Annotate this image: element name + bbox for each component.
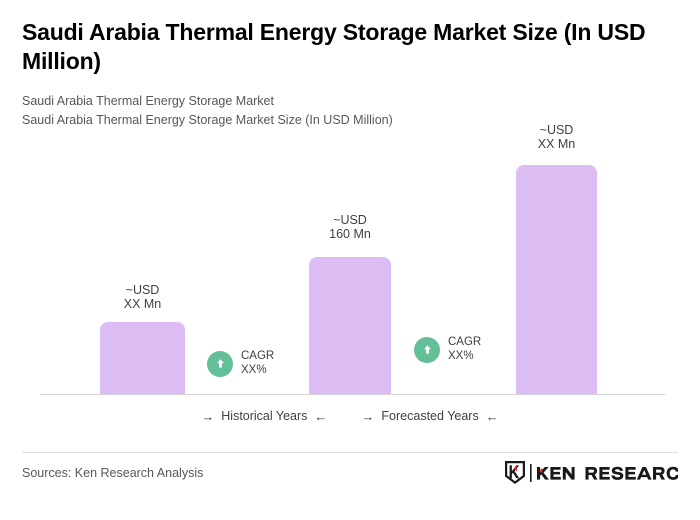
- legend-item-forecasted: → Forecasted Years ←: [361, 409, 498, 423]
- bar-label-3-line1: ~USD: [516, 123, 597, 137]
- bar-label-2: ~USD 160 Mn: [309, 213, 391, 242]
- legend-item-historical-label: Historical Years: [221, 409, 307, 423]
- bar-label-1: ~USD XX Mn: [100, 283, 185, 312]
- axis-baseline: [40, 394, 665, 395]
- footer-divider: [22, 452, 678, 453]
- ken-shield-icon: [504, 460, 526, 490]
- cagr-badge-2-line2: XX%: [448, 350, 481, 364]
- chart-page: Saudi Arabia Thermal Energy Storage Mark…: [0, 0, 700, 520]
- chart-legend: → Historical Years ← → Forecasted Years …: [0, 409, 700, 423]
- sources-note: Sources: Ken Research Analysis: [22, 466, 203, 480]
- arrow-right-icon: →: [361, 410, 374, 423]
- ken-research-logo: [504, 462, 678, 488]
- arrow-up-icon: [207, 351, 233, 377]
- bar-label-1-line2: XX Mn: [100, 297, 185, 311]
- arrow-right-icon: →: [201, 410, 214, 423]
- arrow-left-icon: ←: [314, 410, 327, 423]
- bar-3: [516, 165, 597, 395]
- ken-research-wordmark: [530, 463, 678, 488]
- bar-label-2-line1: ~USD: [309, 213, 391, 227]
- cagr-badge-2-line1: CAGR: [448, 336, 481, 350]
- bar-2: [309, 257, 391, 395]
- cagr-badge-2: CAGR XX%: [414, 336, 481, 364]
- arrow-left-icon: ←: [486, 410, 499, 423]
- bar-label-3: ~USD XX Mn: [516, 123, 597, 152]
- cagr-badge-2-text: CAGR XX%: [448, 336, 481, 364]
- arrow-up-icon: [414, 337, 440, 363]
- legend-item-historical: → Historical Years ←: [201, 409, 327, 423]
- bar-label-1-line1: ~USD: [100, 283, 185, 297]
- bar-1: [100, 322, 185, 395]
- chart-plot-area: ~USD XX Mn CAGR XX% ~USD 160 Mn: [0, 0, 700, 400]
- bar-label-3-line2: XX Mn: [516, 137, 597, 151]
- cagr-badge-1-line1: CAGR: [241, 350, 274, 364]
- cagr-badge-1: CAGR XX%: [207, 350, 274, 378]
- cagr-badge-1-text: CAGR XX%: [241, 350, 274, 378]
- cagr-badge-1-line2: XX%: [241, 364, 274, 378]
- bar-label-2-line2: 160 Mn: [309, 227, 391, 241]
- legend-item-forecasted-label: Forecasted Years: [381, 409, 478, 423]
